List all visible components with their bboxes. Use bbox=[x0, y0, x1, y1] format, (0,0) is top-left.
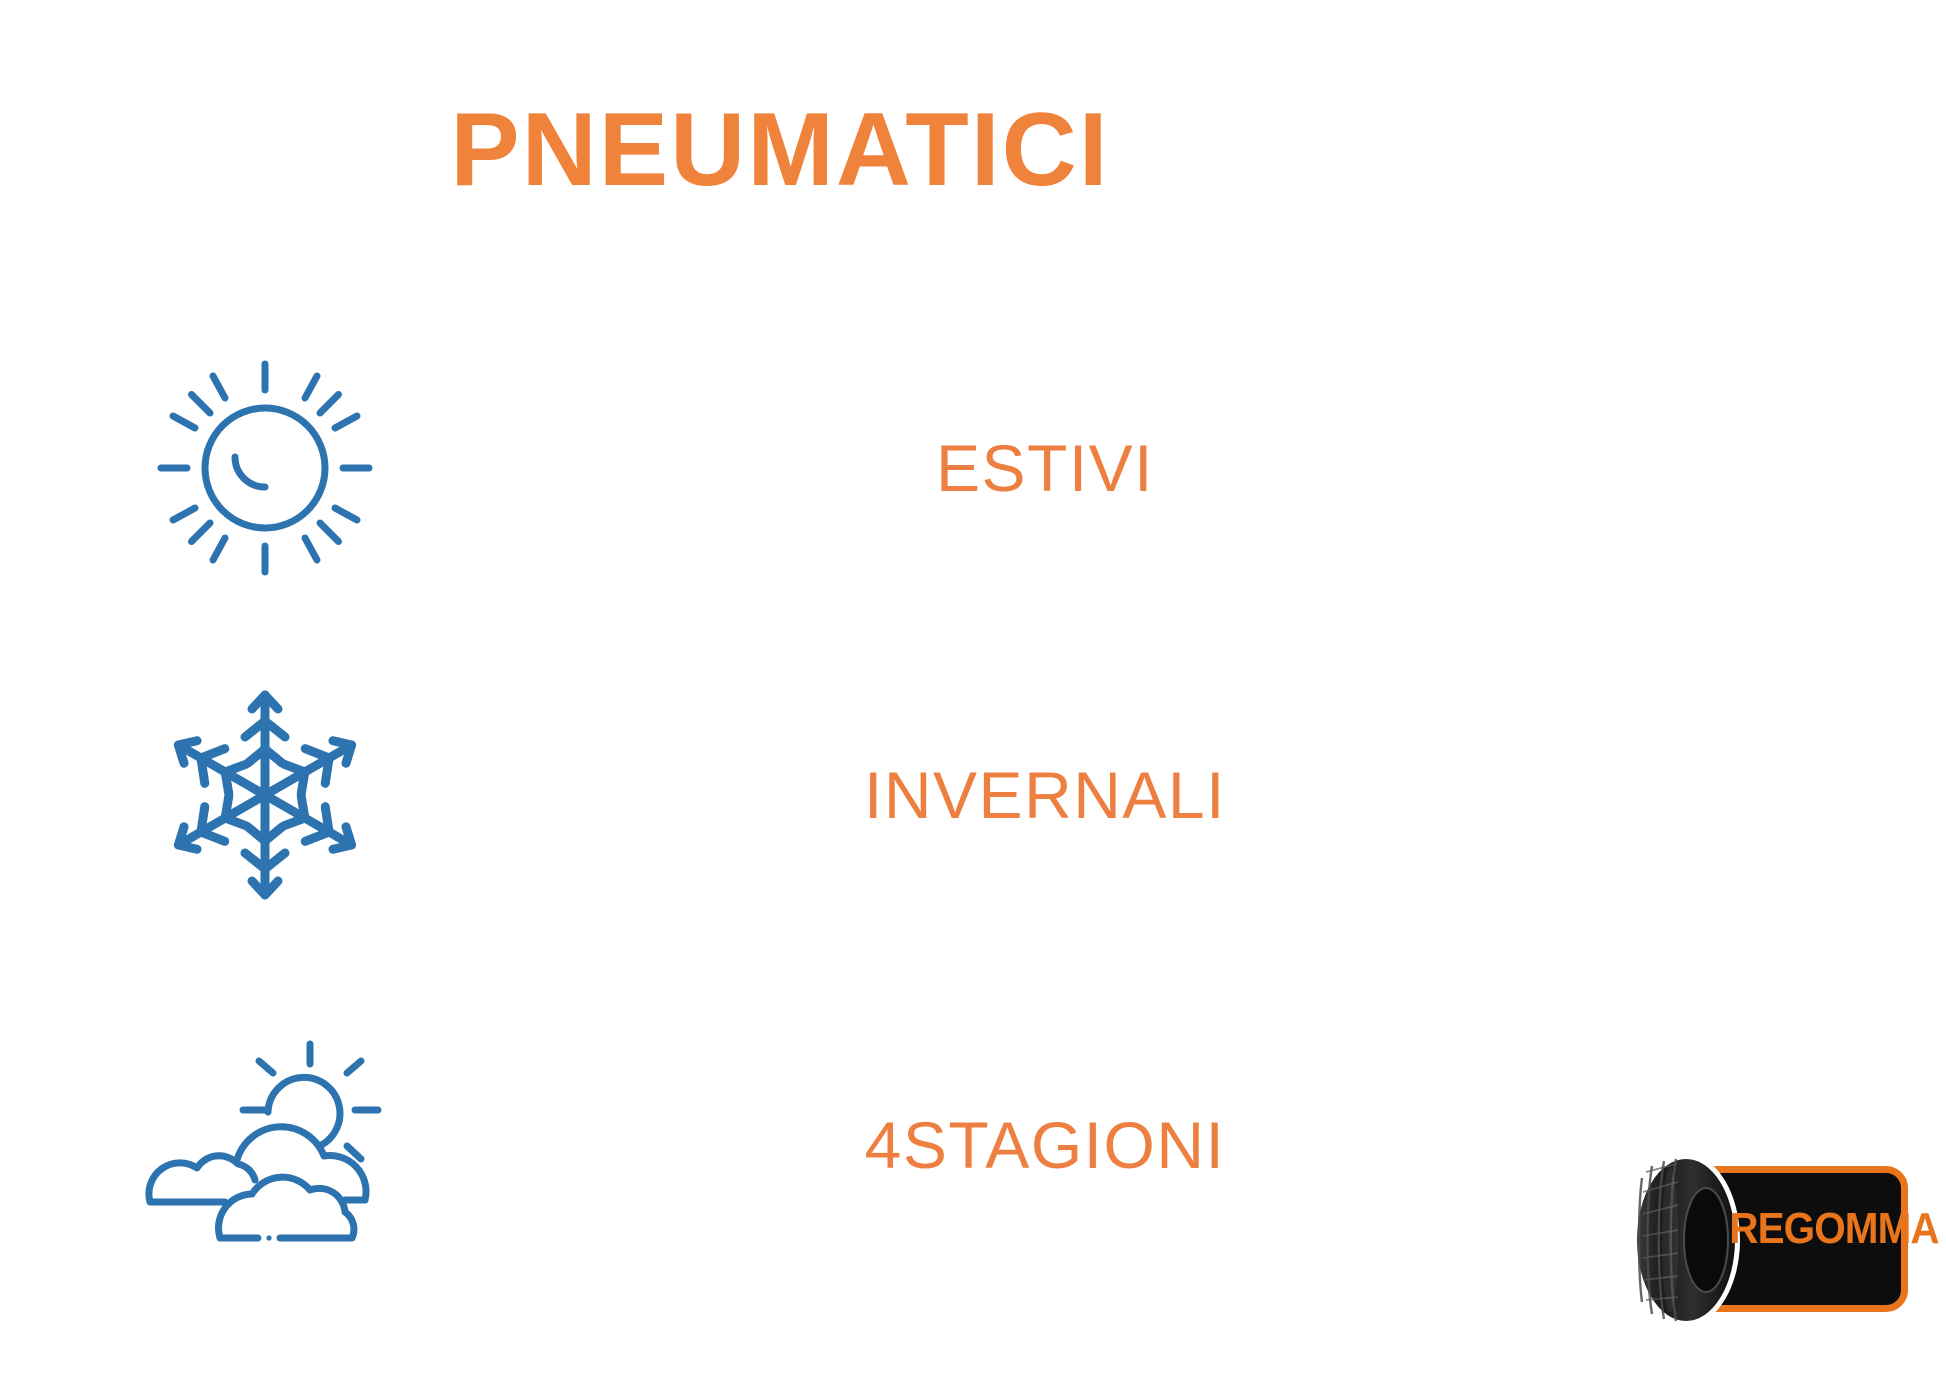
quattrostagioni-label-cell: 4STAGIONI bbox=[530, 1020, 1560, 1270]
sun-icon bbox=[153, 356, 377, 580]
row-label-estivi: ESTIVI bbox=[936, 430, 1154, 506]
list-item: 4STAGIONI bbox=[0, 1020, 1560, 1270]
list-item: ESTIVI bbox=[0, 343, 1560, 593]
sun-icon-cell bbox=[0, 343, 530, 593]
estivi-label-cell: ESTIVI bbox=[530, 343, 1560, 593]
list-item: INVERNALI bbox=[0, 670, 1560, 920]
logo-brand-text: REGOMMA bbox=[1729, 1207, 1896, 1251]
row-label-invernali: INVERNALI bbox=[864, 757, 1226, 833]
sun-behind-clouds-icon-cell bbox=[0, 1020, 530, 1270]
invernali-label-cell: INVERNALI bbox=[530, 670, 1560, 920]
row-label-4stagioni: 4STAGIONI bbox=[865, 1107, 1226, 1183]
sun-behind-clouds-icon bbox=[140, 1040, 390, 1250]
snowflake-icon bbox=[157, 680, 373, 910]
regomma-logo[interactable]: REGOMMA bbox=[1630, 1152, 1910, 1328]
page-title: PNEUMATICI bbox=[0, 96, 1560, 205]
poster-root: PNEUMATICI bbox=[0, 0, 1946, 1376]
snowflake-icon-cell bbox=[0, 670, 530, 920]
